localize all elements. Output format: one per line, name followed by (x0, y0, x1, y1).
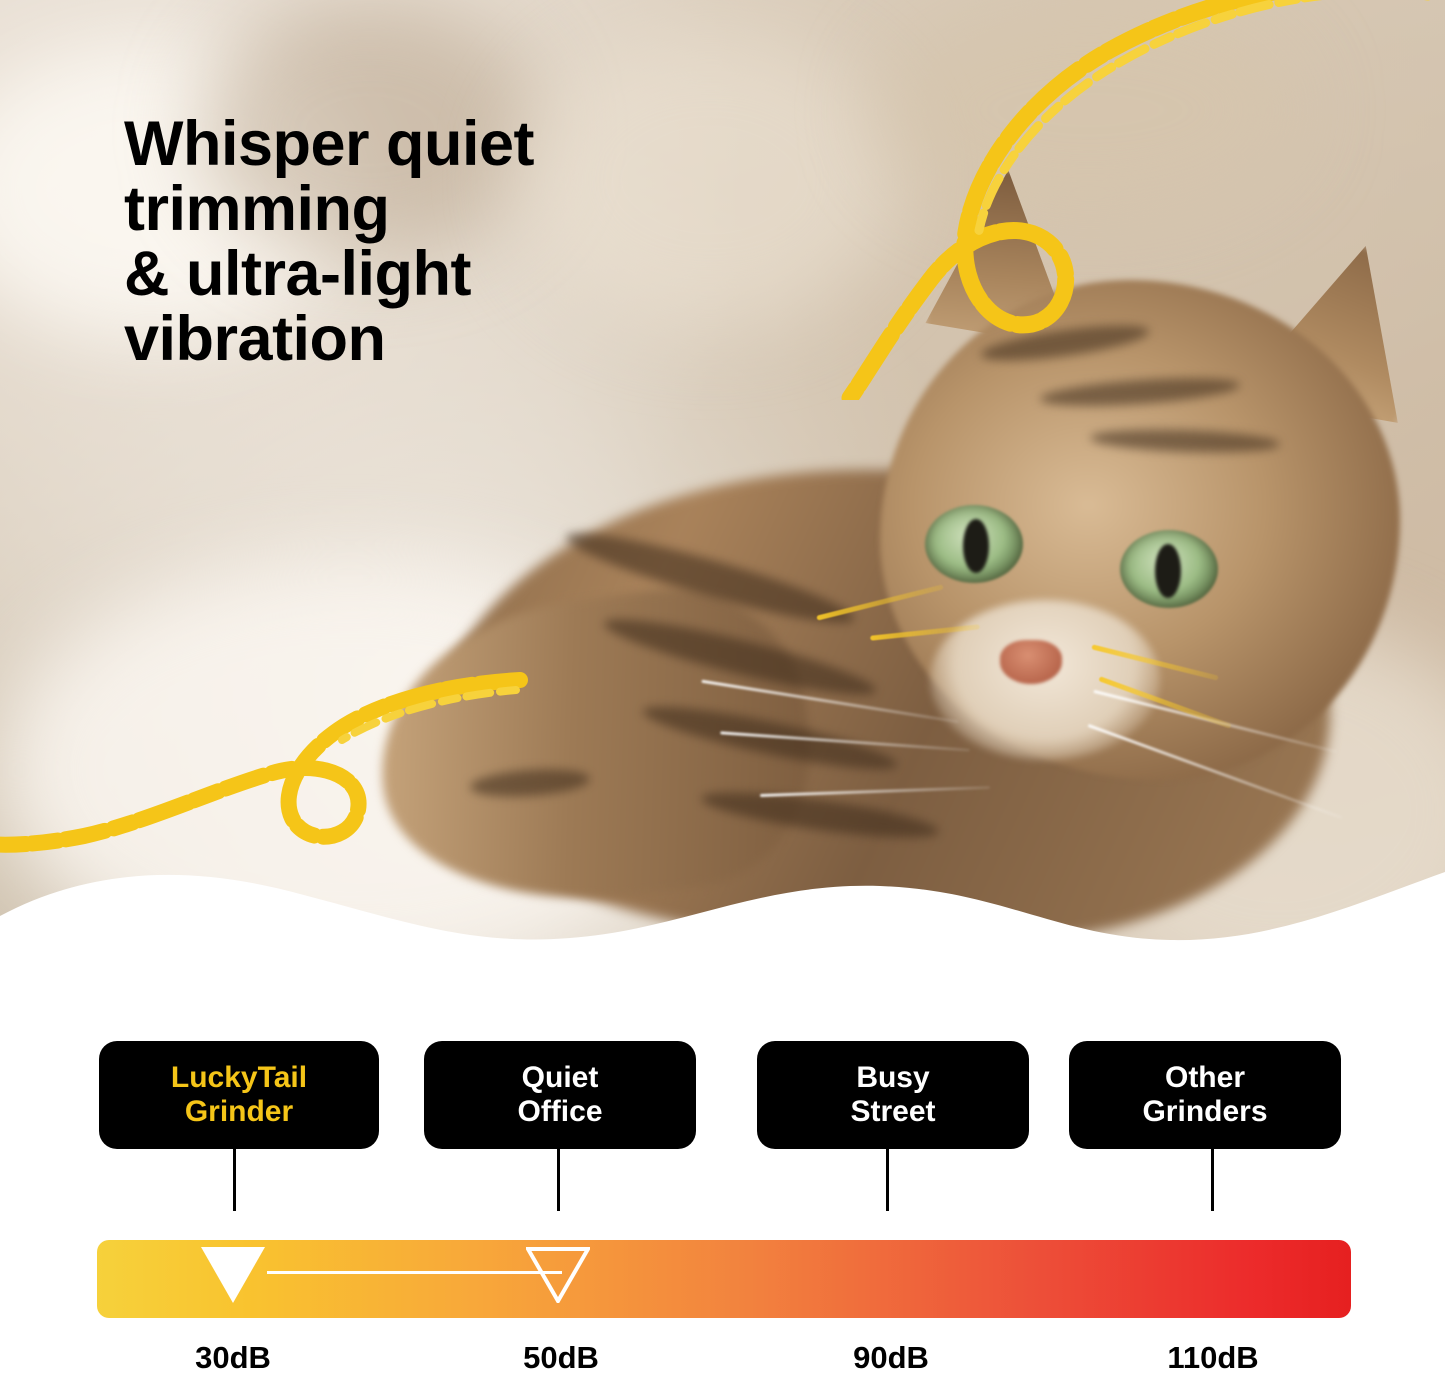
cat-pupil-right (1155, 544, 1181, 598)
tick-label-50db: 50dB (523, 1340, 599, 1376)
decibel-comparison-chart: LuckyTail Grinder Quiet Office Busy Stre… (0, 1000, 1445, 1376)
hero-photo: Whisper quiet trimming & ultra-light vib… (0, 0, 1445, 1000)
tick-label-90db: 90dB (853, 1340, 929, 1376)
chart-stem-1 (233, 1149, 236, 1211)
chart-stem-2 (557, 1149, 560, 1211)
chart-label-other-grinders: Other Grinders (1069, 1041, 1341, 1149)
chart-label-busy-street: Busy Street (757, 1041, 1029, 1149)
cat-pupil-left (963, 519, 989, 573)
chart-label-luckytail-grinder: LuckyTail Grinder (99, 1041, 379, 1149)
marker-quiet-office-50db (526, 1247, 590, 1303)
page-title: Whisper quiet trimming & ultra-light vib… (124, 112, 764, 372)
marker-luckytail-30db (201, 1247, 265, 1303)
tick-label-30db: 30dB (195, 1340, 271, 1376)
wave-divider (0, 820, 1445, 1000)
tick-label-110db: 110dB (1167, 1340, 1258, 1376)
decibel-scale-bar (97, 1240, 1351, 1318)
chart-stem-4 (1211, 1149, 1214, 1211)
marker-connector (267, 1271, 562, 1274)
cat-nose (1000, 640, 1062, 684)
yellow-squiggle-top-icon (780, 0, 1440, 400)
chart-label-quiet-office: Quiet Office (424, 1041, 696, 1149)
chart-stem-3 (886, 1149, 889, 1211)
